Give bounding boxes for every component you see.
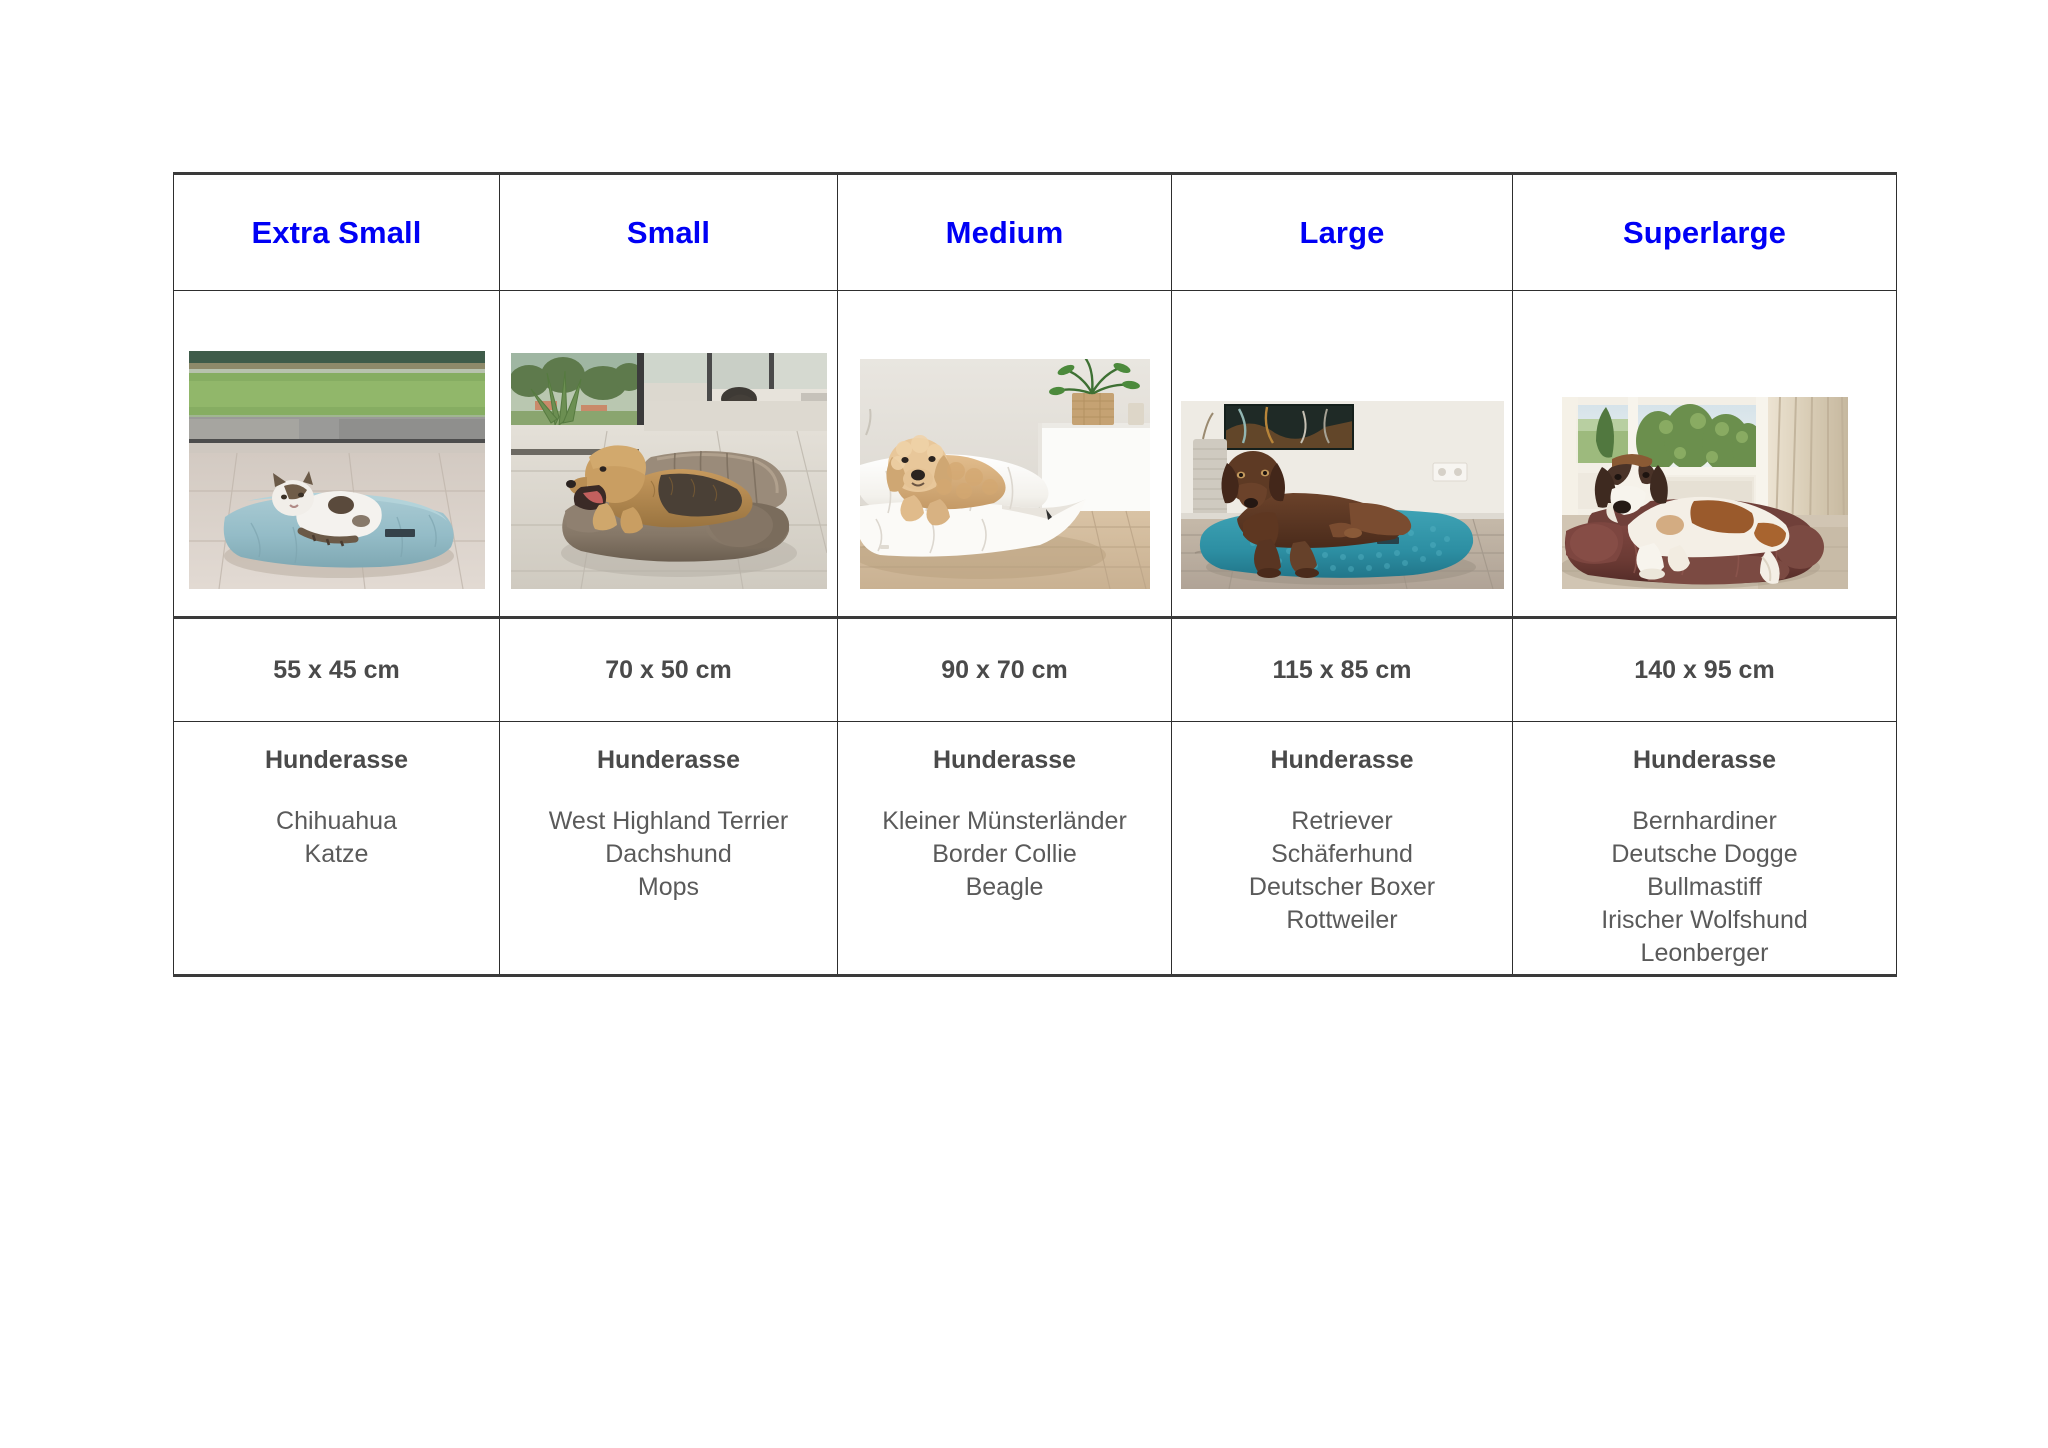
breed-title-large: Hunderasse bbox=[1172, 748, 1512, 773]
document-page: Extra Small Small Medium Large Superlarg… bbox=[0, 0, 2048, 1448]
breed-list-superlarge: Bernhardiner Deutsche Dogge Bullmastiff … bbox=[1513, 805, 1896, 970]
header-cell-large: Large bbox=[1172, 174, 1513, 291]
size-label-extra-small: Extra Small bbox=[174, 217, 499, 248]
table-dimension-row: 55 x 45 cm 70 x 50 cm 90 x 70 cm 115 x 8… bbox=[174, 618, 1897, 722]
image-cell-small bbox=[500, 291, 838, 618]
photo-extra-small bbox=[189, 351, 485, 589]
dimension-cell-medium: 90 x 70 cm bbox=[838, 618, 1172, 722]
dimension-cell-large: 115 x 85 cm bbox=[1172, 618, 1513, 722]
breed-cell-large: Hunderasse Retriever Schäferhund Deutsch… bbox=[1172, 722, 1513, 976]
dimension-value-extra-small: 55 x 45 cm bbox=[174, 658, 499, 683]
image-cell-medium bbox=[838, 291, 1172, 618]
list-item: Border Collie bbox=[838, 838, 1171, 871]
dimension-cell-small: 70 x 50 cm bbox=[500, 618, 838, 722]
breed-title-extra-small: Hunderasse bbox=[174, 748, 499, 773]
breed-cell-medium: Hunderasse Kleiner Münsterländer Border … bbox=[838, 722, 1172, 976]
size-label-medium: Medium bbox=[838, 217, 1171, 248]
dimension-value-small: 70 x 50 cm bbox=[500, 658, 837, 683]
table-breed-row: Hunderasse Chihuahua Katze Hunderasse We… bbox=[174, 722, 1897, 976]
breed-title-small: Hunderasse bbox=[500, 748, 837, 773]
dog-bed-size-table: Extra Small Small Medium Large Superlarg… bbox=[173, 172, 1897, 977]
header-cell-small: Small bbox=[500, 174, 838, 291]
photo-superlarge bbox=[1562, 397, 1848, 589]
list-item: Bernhardiner bbox=[1513, 805, 1896, 838]
dimension-value-superlarge: 140 x 95 cm bbox=[1513, 658, 1896, 683]
list-item: Beagle bbox=[838, 871, 1171, 904]
list-item: Deutsche Dogge bbox=[1513, 838, 1896, 871]
list-item: Dachshund bbox=[500, 838, 837, 871]
breed-list-extra-small: Chihuahua Katze bbox=[174, 805, 499, 871]
breed-title-medium: Hunderasse bbox=[838, 748, 1171, 773]
dimension-value-large: 115 x 85 cm bbox=[1172, 658, 1512, 683]
list-item: West Highland Terrier bbox=[500, 805, 837, 838]
list-item: Kleiner Münsterländer bbox=[838, 805, 1171, 838]
dimension-value-medium: 90 x 70 cm bbox=[838, 658, 1171, 683]
breed-title-superlarge: Hunderasse bbox=[1513, 748, 1896, 773]
list-item: Bullmastiff bbox=[1513, 871, 1896, 904]
table-image-row bbox=[174, 291, 1897, 618]
breed-cell-superlarge: Hunderasse Bernhardiner Deutsche Dogge B… bbox=[1513, 722, 1897, 976]
size-label-superlarge: Superlarge bbox=[1513, 217, 1896, 248]
list-item: Retriever bbox=[1172, 805, 1512, 838]
size-label-small: Small bbox=[500, 217, 837, 248]
list-item: Chihuahua bbox=[174, 805, 499, 838]
breed-list-large: Retriever Schäferhund Deutscher Boxer Ro… bbox=[1172, 805, 1512, 937]
list-item: Leonberger bbox=[1513, 937, 1896, 970]
list-item: Deutscher Boxer bbox=[1172, 871, 1512, 904]
size-label-large: Large bbox=[1172, 217, 1512, 248]
header-cell-superlarge: Superlarge bbox=[1513, 174, 1897, 291]
list-item: Irischer Wolfshund bbox=[1513, 904, 1896, 937]
header-cell-extra-small: Extra Small bbox=[174, 174, 500, 291]
dimension-cell-extra-small: 55 x 45 cm bbox=[174, 618, 500, 722]
table-header-row: Extra Small Small Medium Large Superlarg… bbox=[174, 174, 1897, 291]
photo-small bbox=[511, 353, 827, 589]
breed-cell-extra-small: Hunderasse Chihuahua Katze bbox=[174, 722, 500, 976]
dimension-cell-superlarge: 140 x 95 cm bbox=[1513, 618, 1897, 722]
list-item: Schäferhund bbox=[1172, 838, 1512, 871]
breed-list-small: West Highland Terrier Dachshund Mops bbox=[500, 805, 837, 904]
image-cell-large bbox=[1172, 291, 1513, 618]
list-item: Rottweiler bbox=[1172, 904, 1512, 937]
photo-medium bbox=[860, 359, 1150, 589]
photo-large bbox=[1181, 401, 1504, 589]
breed-cell-small: Hunderasse West Highland Terrier Dachshu… bbox=[500, 722, 838, 976]
breed-list-medium: Kleiner Münsterländer Border Collie Beag… bbox=[838, 805, 1171, 904]
list-item: Mops bbox=[500, 871, 837, 904]
image-cell-extra-small bbox=[174, 291, 500, 618]
list-item: Katze bbox=[174, 838, 499, 871]
image-cell-superlarge bbox=[1513, 291, 1897, 618]
header-cell-medium: Medium bbox=[838, 174, 1172, 291]
